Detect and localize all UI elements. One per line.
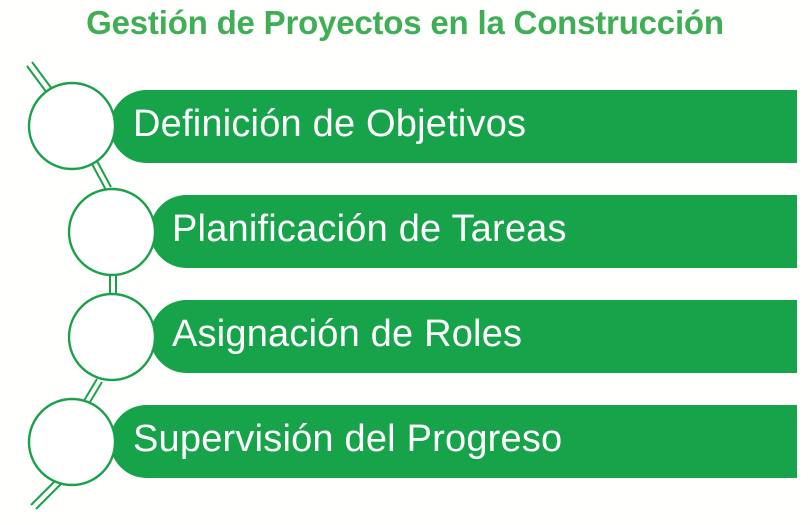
step-label-4: Supervisión del Progreso xyxy=(133,420,562,458)
step-circle-1[interactable] xyxy=(29,83,115,169)
step-bar-3-right-cap xyxy=(600,300,797,373)
step-label-3: Asignación de Roles xyxy=(172,315,522,353)
step-circle-3[interactable] xyxy=(69,294,155,380)
step-label-2: Planificación de Tareas xyxy=(172,210,567,248)
step-circle-4[interactable] xyxy=(29,399,115,485)
connector-top-entry xyxy=(27,62,52,93)
step-label-1: Definición de Objetivos xyxy=(133,105,526,143)
connector-step1-step2 xyxy=(92,161,111,190)
step-bar-4-right-cap xyxy=(600,405,797,478)
connector-step2-step3 xyxy=(110,274,116,295)
infographic-canvas: Gestión de Proyectos en la Construcción xyxy=(0,0,810,525)
step-circle-2[interactable] xyxy=(69,189,155,275)
step-bar-1-right-cap xyxy=(600,90,797,163)
step-bar-2-right-cap xyxy=(600,195,797,268)
